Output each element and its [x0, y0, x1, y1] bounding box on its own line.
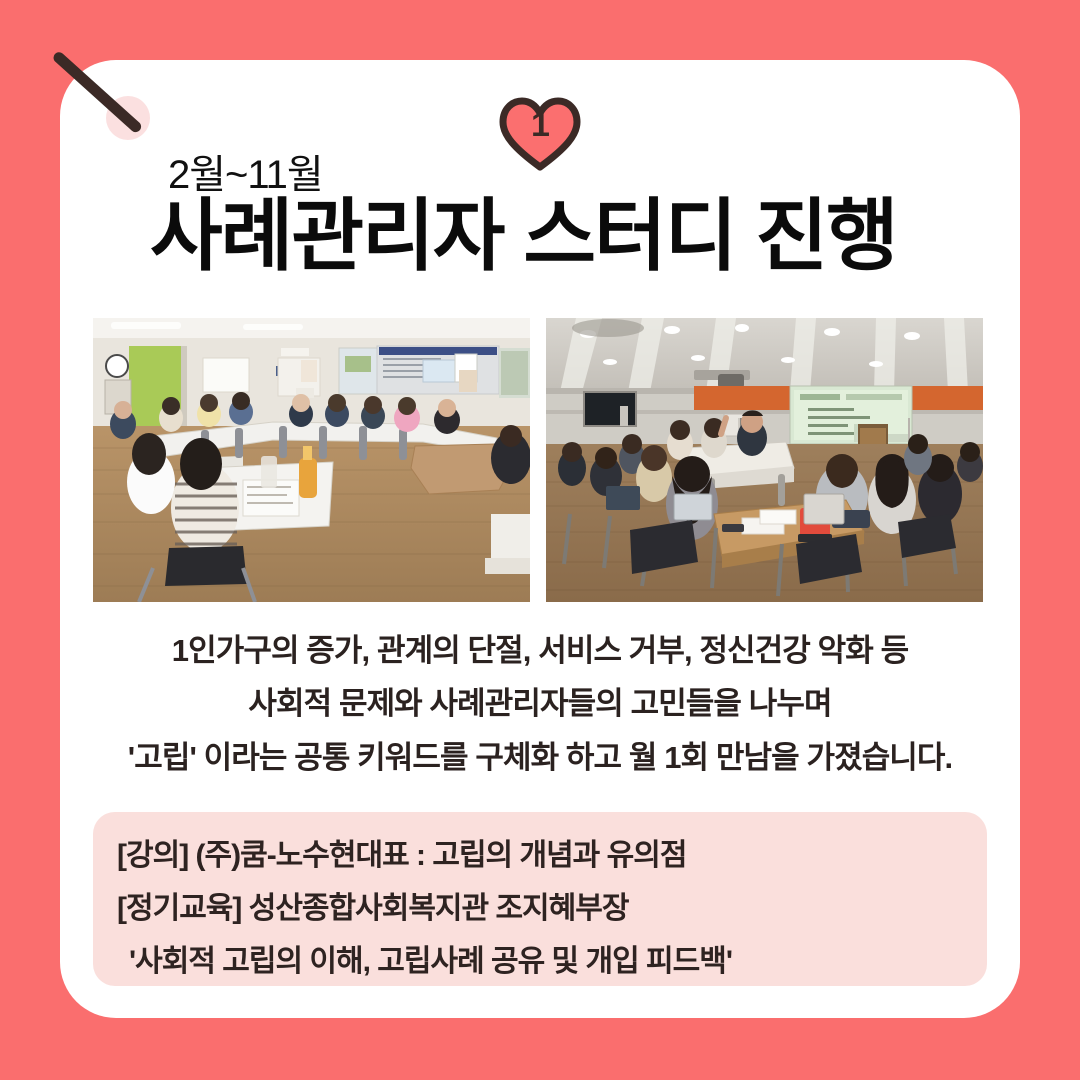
body-paragraph: 1인가구의 증가, 관계의 단절, 서비스 거부, 정신건강 악화 등 사회적 … — [80, 624, 1000, 784]
body-line-3: '고립' 이라는 공통 키워드를 구체화 하고 월 1회 만남을 가졌습니다. — [80, 731, 1000, 784]
note-line-regular-education: [정기교육] 성산종합사회복지관 조지혜부장 — [117, 882, 967, 935]
note-line-lecture: [강의] (주)쿰-노수현대표 : 고립의 개념과 유의점 — [117, 829, 967, 882]
photo-gallery — [93, 318, 983, 602]
note-box: [강의] (주)쿰-노수현대표 : 고립의 개념과 유의점 [정기교육] 성산종… — [93, 812, 987, 986]
photo-study-meeting-room-image — [93, 318, 530, 602]
photo-study-meeting-room — [93, 318, 530, 602]
note-list: [강의] (주)쿰-노수현대표 : 고립의 개념과 유의점 [정기교육] 성산종… — [117, 829, 967, 988]
photo-lecture-seminar-room-image — [546, 318, 983, 602]
photo-lecture-seminar-room — [546, 318, 983, 602]
note-line-topic: '사회적 고립의 이해, 고립사례 공유 및 개입 피드백' — [117, 935, 967, 988]
body-line-1: 1인가구의 증가, 관계의 단절, 서비스 거부, 정신건강 악화 등 — [80, 624, 1000, 677]
heart-badge-number: 1 — [498, 108, 582, 142]
body-line-2: 사회적 문제와 사례관리자들의 고민들을 나누며 — [80, 677, 1000, 730]
poster-canvas: 1 2월~11월 사례관리자 스터디 진행 — [0, 0, 1080, 1080]
page-title: 사례관리자 스터디 진행 — [150, 192, 897, 280]
heart-badge: 1 — [498, 96, 582, 172]
